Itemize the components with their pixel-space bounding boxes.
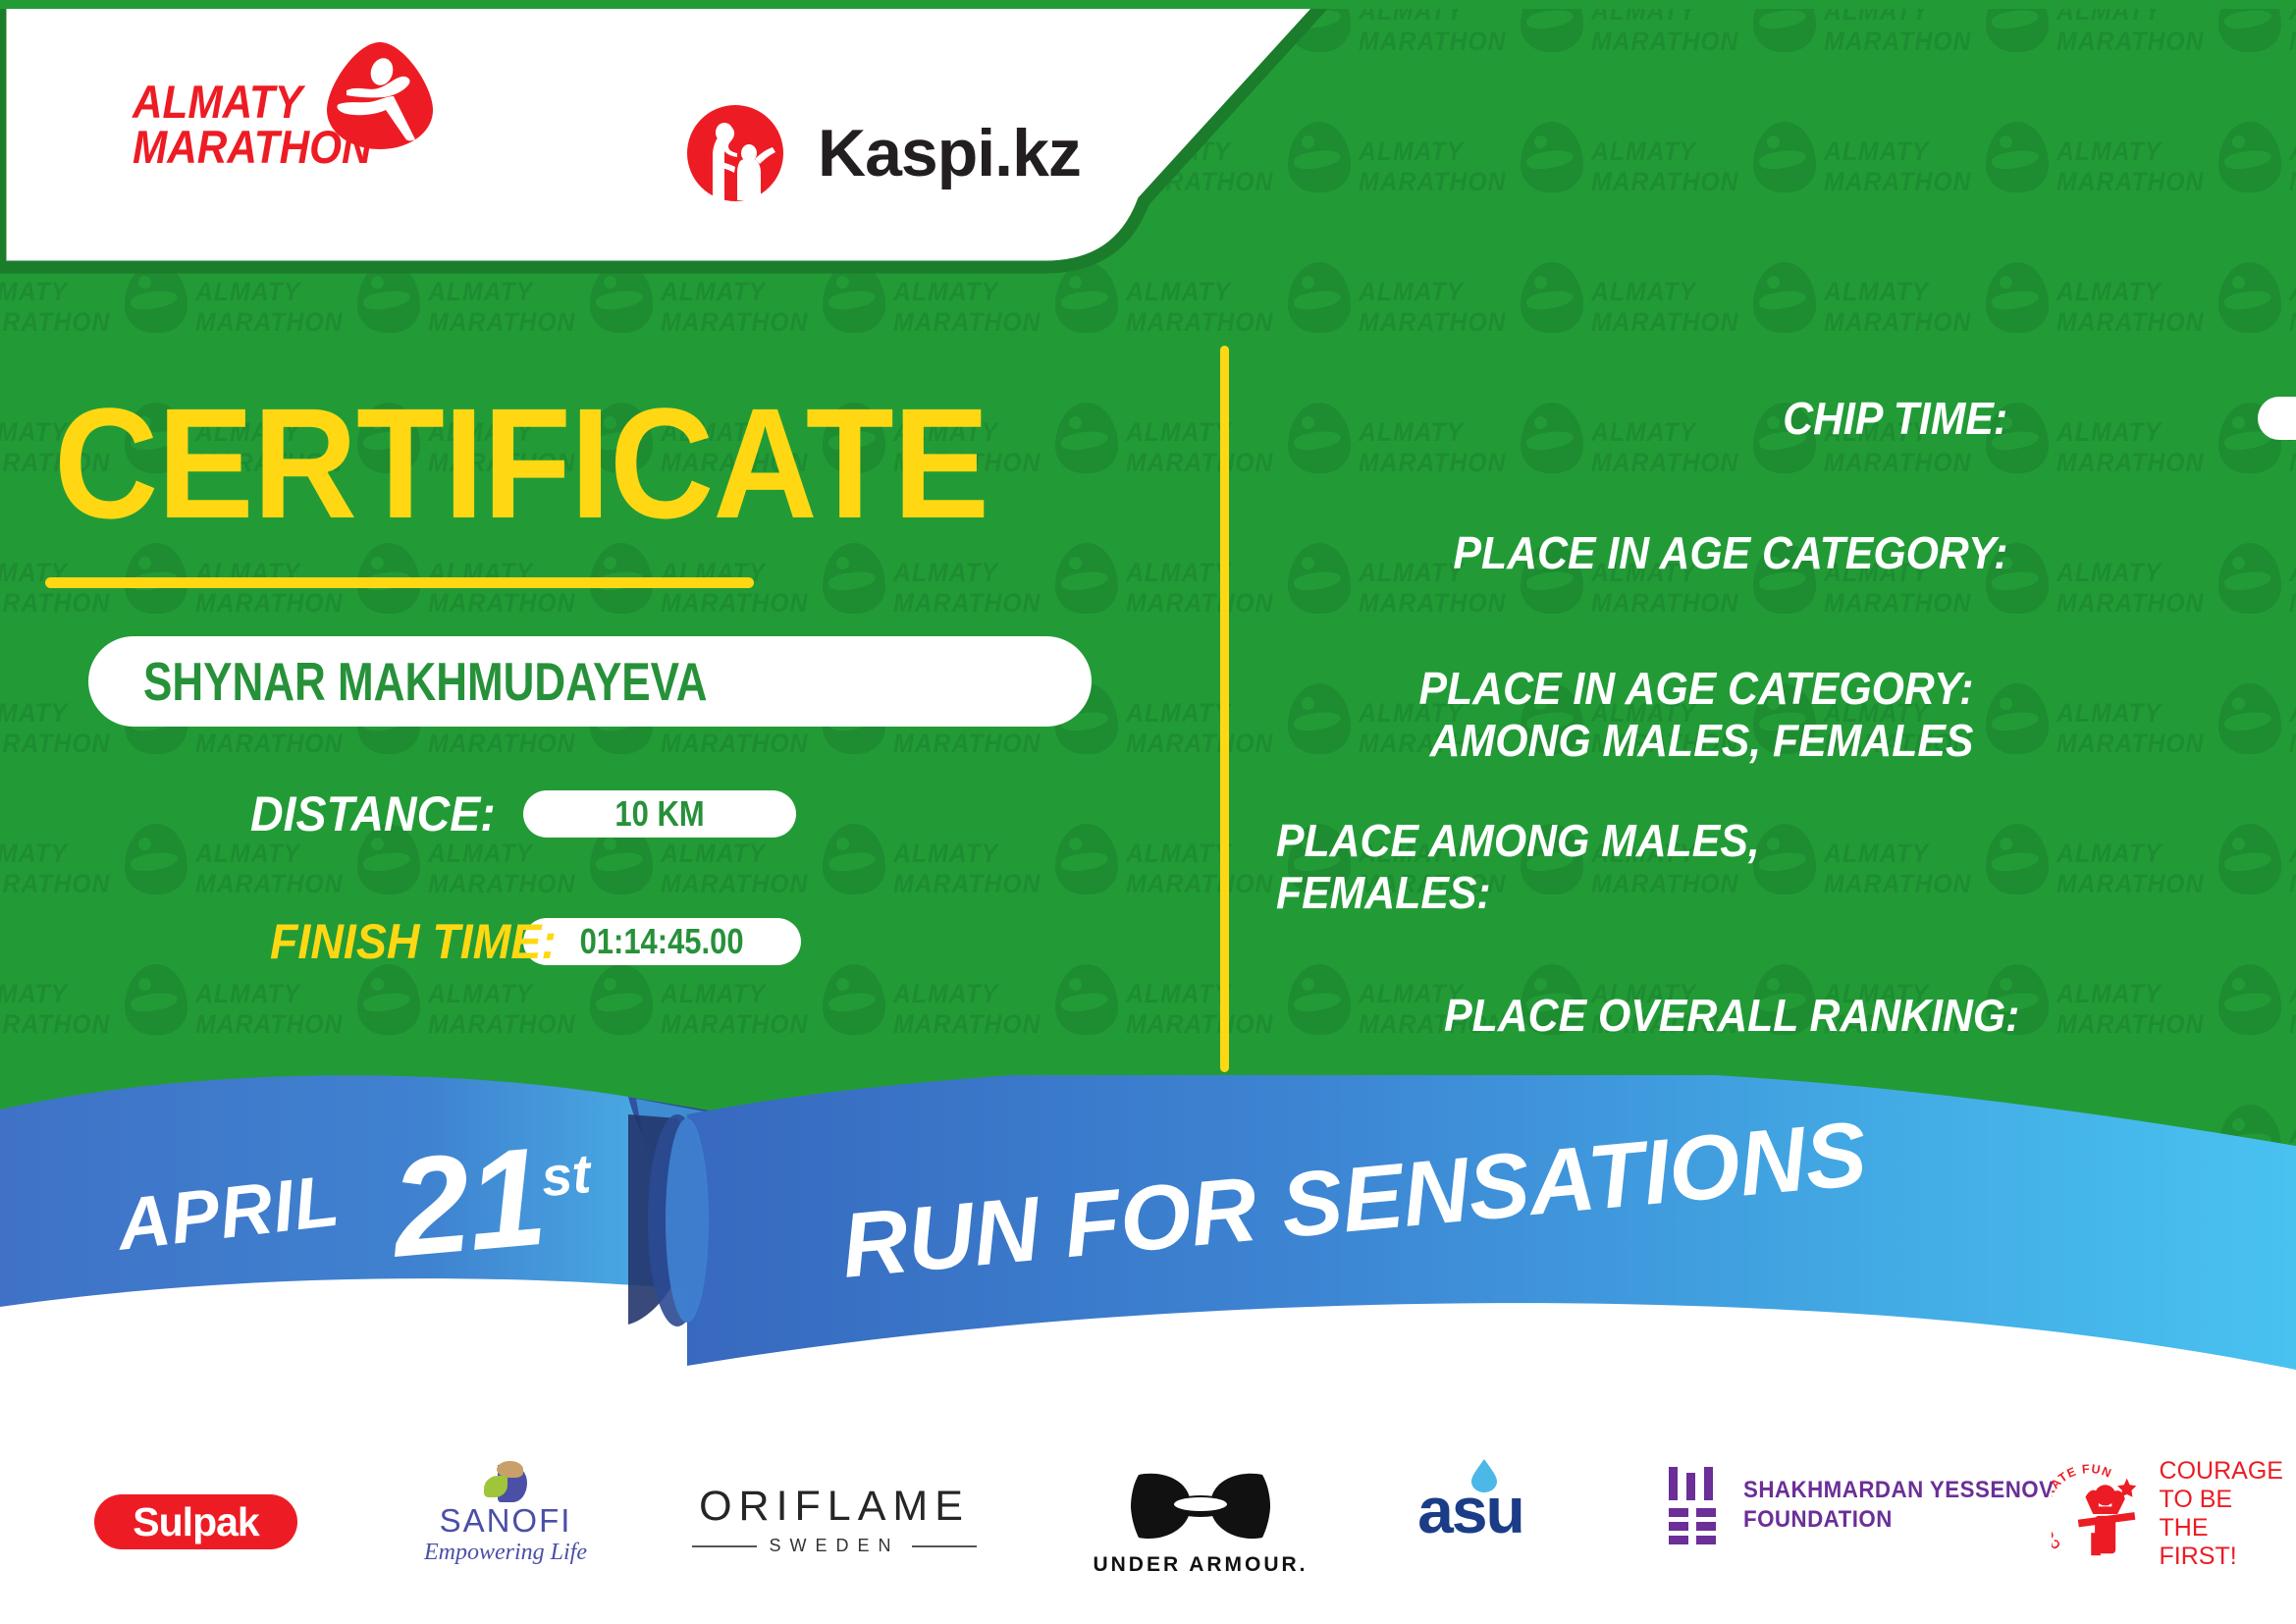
page-title: CERTIFICATE bbox=[54, 385, 988, 542]
sanofi-label: SANOFI bbox=[440, 1502, 572, 1540]
sponsors-bar: Sulpak SANOFI Empowering Life ORIFLAME S… bbox=[0, 1434, 2296, 1624]
courage-figure-logo: CORPORATE FUND bbox=[2052, 1461, 2154, 1567]
sponsor-yessenov: SHAKHMARDAN YESSENOV FOUNDATION bbox=[1662, 1467, 2084, 1543]
chip-time-label: CHIP TIME: bbox=[1783, 393, 2007, 445]
sanofi-tagline: Empowering Life bbox=[424, 1540, 587, 1566]
distance-label: DISTANCE: bbox=[250, 785, 497, 842]
sponsor-courage: CORPORATE FUND COURAGE TO BE THE FIRST! bbox=[2052, 1457, 2287, 1571]
finish-time-value: 01:14:45.00 bbox=[523, 918, 801, 965]
finish-time-label: FINISH TIME: bbox=[270, 913, 499, 970]
yessenov-bars-logo bbox=[1669, 1467, 1726, 1543]
oriflame-tagline: SWEDEN bbox=[769, 1536, 899, 1556]
stat-place-age-among: PLACE IN AGE CATEGORY: AMONG MALES, FEMA… bbox=[1276, 663, 1973, 767]
stat-place-among: PLACE AMONG MALES, FEMALES: bbox=[1276, 815, 1930, 919]
athlete-name-field: SHYNAR MAKHMUDAYEVA bbox=[88, 636, 1092, 727]
under-armour-logo bbox=[1131, 1471, 1270, 1547]
yessenov-label: SHAKHMARDAN YESSENOV FOUNDATION bbox=[1743, 1476, 2054, 1535]
sulpak-logo: Sulpak bbox=[94, 1494, 297, 1549]
row-distance: DISTANCE: 10 KM bbox=[250, 785, 796, 842]
courage-label: COURAGE TO BE THE FIRST! bbox=[2160, 1457, 2287, 1571]
place-age-category-label: PLACE IN AGE CATEGORY: bbox=[1453, 527, 2007, 579]
oriflame-label: ORIFLAME bbox=[699, 1483, 970, 1531]
sponsor-asu: asu bbox=[1362, 1473, 1578, 1547]
place-among-label: PLACE AMONG MALES, FEMALES: bbox=[1276, 815, 1760, 919]
asu-drop-icon bbox=[1471, 1459, 1497, 1492]
event-ribbon bbox=[0, 1075, 2296, 1468]
stat-place-overall: PLACE OVERALL RANKING: bbox=[1276, 990, 2019, 1042]
sponsor-sanofi: SANOFI Empowering Life bbox=[402, 1461, 609, 1566]
distance-value: 10 KM bbox=[523, 790, 796, 838]
sponsor-sulpak: Sulpak bbox=[94, 1494, 297, 1549]
oriflame-rule-left bbox=[692, 1545, 757, 1547]
place-overall-label: PLACE OVERALL RANKING: bbox=[1444, 990, 2019, 1042]
chip-time-value: 01:12:01.00 bbox=[2258, 397, 2296, 440]
under-armour-label: UNDER ARMOUR. bbox=[1093, 1553, 1308, 1577]
asu-label: asu bbox=[1417, 1473, 1523, 1547]
stat-chip-time: CHIP TIME: bbox=[1276, 393, 2007, 445]
ribbon-day-label: 21st bbox=[386, 1112, 599, 1290]
certificate-page: ALMATY MARATHONALMATY MARATHONALMATY MAR… bbox=[0, 0, 2296, 1624]
column-divider bbox=[1220, 346, 1229, 1072]
place-age-among-label: PLACE IN AGE CATEGORY: AMONG MALES, FEMA… bbox=[1418, 663, 1973, 767]
sponsor-under-armour: UNDER ARMOUR. bbox=[1088, 1471, 1313, 1577]
row-finish-time: FINISH TIME: 01:14:45.00 bbox=[270, 913, 801, 970]
ribbon-day-number: 21 bbox=[386, 1118, 550, 1287]
athlete-name-value: SHYNAR MAKHMUDAYEVA bbox=[143, 650, 708, 713]
oriflame-rule-right bbox=[912, 1545, 977, 1547]
sulpak-label: Sulpak bbox=[133, 1499, 258, 1545]
title-underline bbox=[45, 577, 754, 588]
sponsor-oriflame: ORIFLAME SWEDEN bbox=[687, 1483, 982, 1556]
stat-place-age-category: PLACE IN AGE CATEGORY: bbox=[1276, 527, 2007, 579]
sanofi-logo bbox=[476, 1461, 535, 1502]
oriflame-tagline-row: SWEDEN bbox=[692, 1536, 976, 1556]
ribbon-day-ordinal: st bbox=[539, 1142, 593, 1208]
